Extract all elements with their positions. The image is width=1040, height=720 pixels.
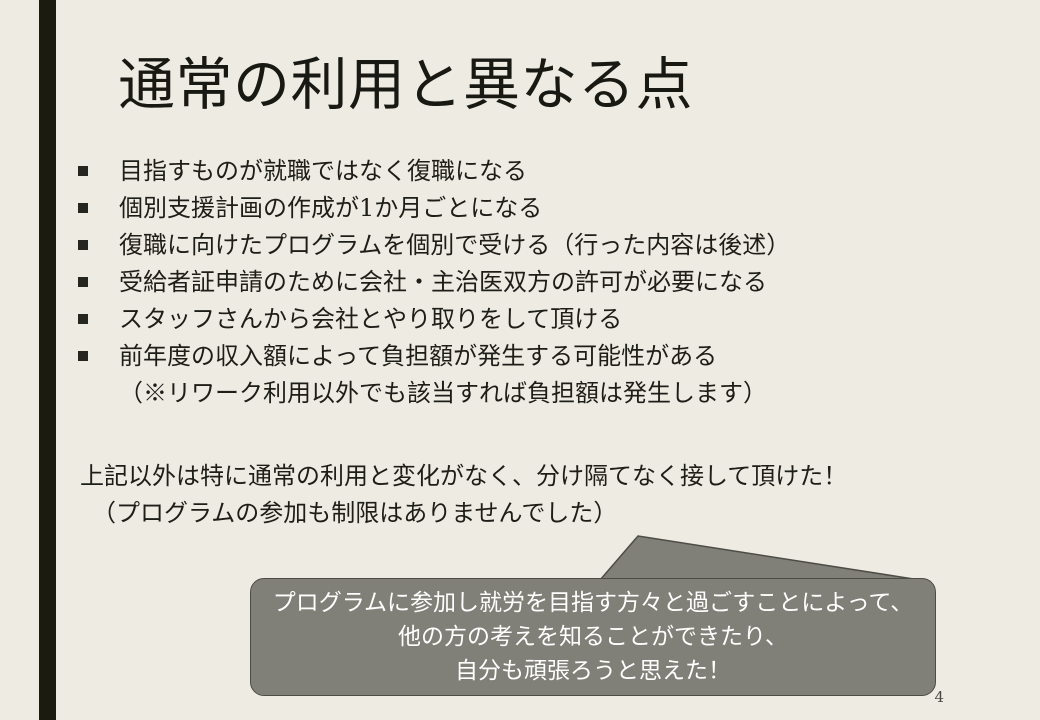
list-item-label: （※リワーク利用以外でも該当すれば負担額は発生します） [119,378,767,408]
list-item: スタッフさんから会社とやり取りをして頂ける [78,300,978,337]
list-item: 目指すものが就職ではなく復職になる [78,152,978,189]
closing-line-2: （プログラムの参加も制限はありませんでした） [80,495,980,532]
square-bullet-icon [78,166,88,176]
list-item-label: 目指すものが就職ではなく復職になる [119,156,527,186]
list-item-label: 前年度の収入額によって負担額が発生する可能性がある [119,341,717,371]
callout-bubble: プログラムに参加し就労を目指す方々と過ごすことによって、 他の方の考えを知ること… [250,578,936,696]
list-item-label: スタッフさんから会社とやり取りをして頂ける [119,304,622,334]
callout-tail-icon [600,533,920,583]
square-bullet-icon [78,351,88,361]
square-bullet-icon [78,203,88,213]
list-item-label: 受給者証申請のために会社・主治医双方の許可が必要になる [119,267,767,297]
callout-line-1: プログラムに参加し就労を目指す方々と過ごすことによって、 [273,586,914,620]
list-item-label: 個別支援計画の作成が1か月ごとになる [119,193,542,223]
page-number: 4 [934,688,944,706]
list-item: 個別支援計画の作成が1か月ごとになる [78,189,978,226]
slide-canvas: 通常の利用と異なる点 目指すものが就職ではなく復職になる 個別支援計画の作成が1… [0,0,1040,720]
callout-line-2: 他の方の考えを知ることができたり、 [398,620,788,654]
list-item: 復職に向けたプログラムを個別で受ける（行った内容は後述） [78,226,978,263]
left-accent-bar [39,0,56,720]
list-item-label: 復職に向けたプログラムを個別で受ける（行った内容は後述） [119,230,790,260]
square-bullet-icon [78,314,88,324]
bullet-list: 目指すものが就職ではなく復職になる 個別支援計画の作成が1か月ごとになる 復職に… [78,152,978,411]
closing-line-1: 上記以外は特に通常の利用と変化がなく、分け隔てなく接して頂けた！ [80,458,980,495]
square-bullet-icon [78,277,88,287]
square-bullet-icon [78,240,88,250]
list-item: 受給者証申請のために会社・主治医双方の許可が必要になる [78,263,978,300]
list-item: 前年度の収入額によって負担額が発生する可能性がある [78,337,978,374]
page-title: 通常の利用と異なる点 [118,53,693,117]
list-item-continuation: （※リワーク利用以外でも該当すれば負担額は発生します） [78,374,978,411]
callout-line-3: 自分も頑張ろうと思えた！ [455,654,731,688]
closing-paragraph: 上記以外は特に通常の利用と変化がなく、分け隔てなく接して頂けた！ （プログラムの… [80,458,980,532]
